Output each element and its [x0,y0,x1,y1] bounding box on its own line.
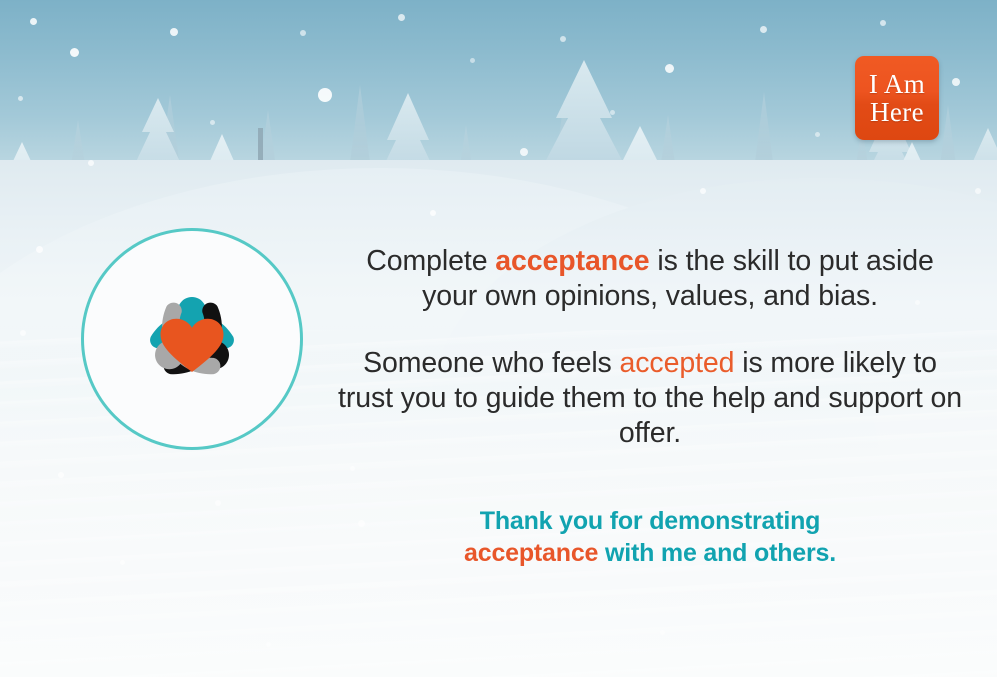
paragraph-accepted: Someone who feels accepted is more likel… [338,346,962,451]
thank-you-message: Thank you for demonstrating acceptance w… [338,505,962,569]
paragraph1-pre: Complete [366,245,495,277]
greeting-card: I Am Here Complete acceptance i [0,0,997,677]
paragraph2-pre: Someone who feels [363,347,619,379]
i-am-here-badge[interactable]: I Am Here [855,56,939,140]
paragraph-acceptance: Complete acceptance is the skill to put … [338,244,962,314]
thanks-line-2-rest: with me and others. [598,539,836,567]
badge-line-2: Here [870,99,924,126]
three-people-heart-icon [117,264,267,414]
paragraph1-highlight: acceptance [495,245,649,277]
badge-line-1: I Am [869,71,925,98]
message-block: Complete acceptance is the skill to put … [338,244,962,451]
community-logo [81,228,303,450]
thanks-highlight: acceptance [464,539,598,567]
paragraph2-highlight: accepted [620,347,735,379]
thanks-line-2: acceptance with me and others. [338,537,962,569]
thanks-line-1: Thank you for demonstrating [338,505,962,537]
